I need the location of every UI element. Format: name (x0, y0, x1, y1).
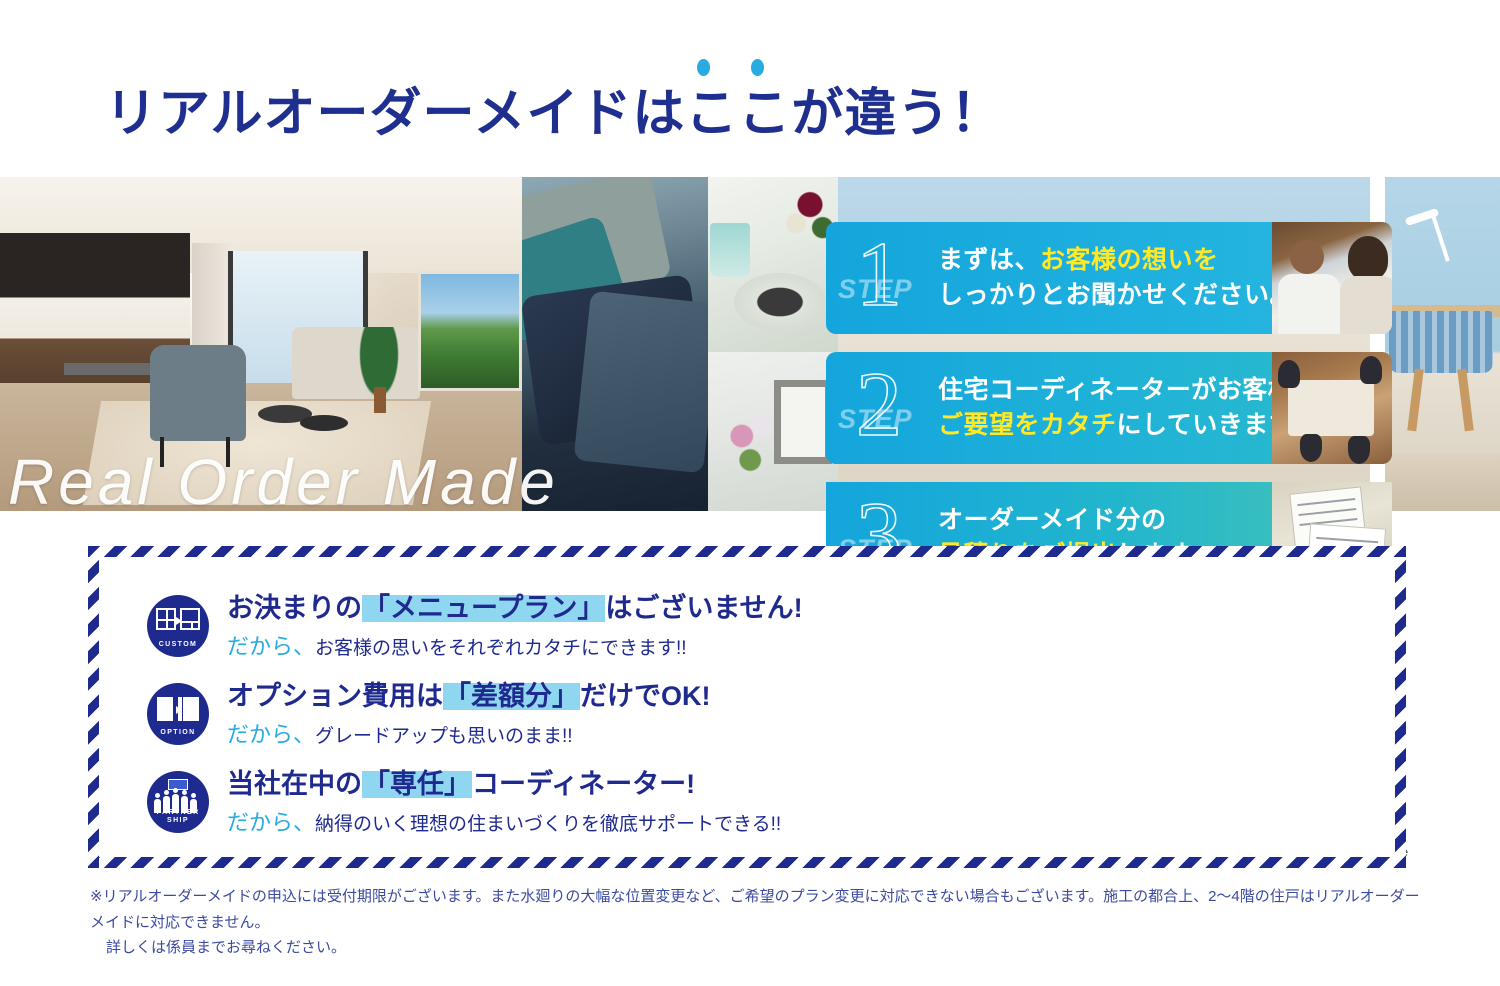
badge-label: OPTION (147, 729, 209, 736)
picture-frame-photo (708, 352, 838, 511)
emphasis-dot-icon (697, 59, 710, 76)
page-title-emphasis: ここ (685, 85, 791, 143)
feature-subtext: だから、お客様の思いをそれぞれカタチにできます!! (227, 630, 803, 664)
badge-label: CUSTOM (147, 641, 209, 648)
custom-badge: CUSTOM (147, 595, 209, 657)
feature-text-custom: お決まりの「メニュープラン」はございません! だから、お客様の思いをそれぞれカタ… (227, 591, 803, 663)
feature-subtext: だから、納得のいく理想の住まいづくりを徹底サポートできる!! (227, 806, 781, 840)
feature-text-option: オプション費用は「差額分」だけでOK! だから、グレードアップも思いのまま!! (227, 679, 711, 751)
brand-watermark: Real Order Made (8, 445, 559, 519)
step-number-2: 2 STEP (826, 352, 938, 464)
page-title-prefix: リアルオーダーメイドは (105, 85, 685, 143)
partnership-badge: PARTNERSHIP (147, 771, 209, 833)
feature-heading: オプション費用は「差額分」だけでOK! (227, 679, 711, 714)
table-setting-photo (708, 177, 838, 352)
emphasis-dot-icon (751, 59, 764, 76)
feature-heading: 当社在中の「専任」コーディネーター! (227, 767, 781, 802)
feature-item-custom: CUSTOM お決まりの「メニュープラン」はございません! だから、お客様の思い… (147, 591, 803, 663)
table-photo-stack (708, 177, 838, 511)
option-badge: OPTION (147, 683, 209, 745)
feature-text-partnership: 当社在中の「専任」コーディネーター! だから、納得のいく理想の住まいづくりを徹底… (227, 767, 781, 839)
step-card-2[interactable]: 2 STEP 住宅コーディネーターがお客様の ご要望をカタチにしていきます。 (826, 352, 1392, 464)
footnote: ※リアルオーダーメイドの申込には受付期限がございます。また水廻りの大幅な位置変更… (90, 884, 1420, 961)
step-number-1: 1 STEP (826, 222, 938, 334)
feature-subtext: だから、グレードアップも思いのまま!! (227, 718, 711, 752)
page-title: リアルオーダーメイドはここが違う！ (105, 88, 1003, 140)
feature-item-partnership: PARTNERSHIP 当社在中の「専任」コーディネーター! だから、納得のいく… (147, 767, 781, 839)
footnote-line-1: ※リアルオーダーメイドの申込には受付期限がございます。また水廻りの大幅な位置変更… (90, 888, 1420, 931)
feature-box-inner: CUSTOM お決まりの「メニュープラン」はございません! だから、お客様の思い… (99, 557, 1395, 857)
step-thumb-consultation-photo (1272, 222, 1392, 334)
page-title-suffix: が違う！ (791, 85, 1003, 143)
feature-item-option: OPTION オプション費用は「差額分」だけでOK! だから、グレードアップも思… (147, 679, 711, 751)
badge-label: PARTNERSHIP (147, 809, 209, 824)
feature-heading: お決まりの「メニュープラン」はございません! (227, 591, 803, 626)
step-thumb-design-meeting-photo (1272, 352, 1392, 464)
feature-box: CUSTOM お決まりの「メニュープラン」はございません! だから、お客様の思い… (88, 546, 1406, 868)
step-card-1[interactable]: 1 STEP まずは、お客様の想いを しっかりとお聞かせください。 (826, 222, 1392, 334)
blue-chair-desk-photo (1385, 177, 1500, 511)
footnote-line-2: 詳しくは係員までお尋ねください。 (90, 935, 1420, 961)
